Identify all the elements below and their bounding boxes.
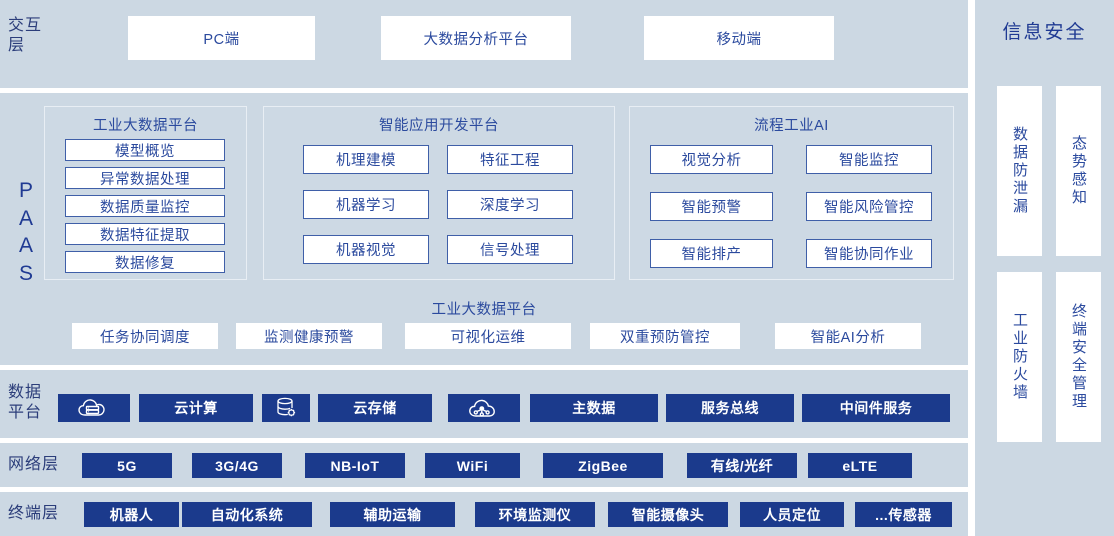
- paas-band-item-visual-ops[interactable]: 可视化运维: [405, 323, 571, 349]
- paas-item-smart-collaboration[interactable]: 智能协同作业: [806, 239, 932, 268]
- paas-item-mechanism-modeling[interactable]: 机理建模: [303, 145, 429, 174]
- paas-item-data-repair[interactable]: 数据修复: [65, 251, 225, 273]
- data-platform-layer-label: 数据 平台: [8, 383, 58, 424]
- paas-item-deep-learning[interactable]: 深度学习: [447, 190, 573, 219]
- paas-item-signal-processing[interactable]: 信号处理: [447, 235, 573, 264]
- data-platform-item-master-data[interactable]: 主数据: [530, 394, 658, 422]
- interaction-item-pc[interactable]: PC端: [128, 16, 315, 60]
- network-item-zigbee[interactable]: ZigBee: [543, 453, 663, 478]
- paas-char-0: P: [6, 177, 46, 205]
- paas-char-2: A: [6, 232, 46, 260]
- network-item-3g4g[interactable]: 3G/4G: [192, 453, 282, 478]
- data-platform-item-database[interactable]: [262, 394, 310, 422]
- paas-item-smart-early-warning[interactable]: 智能预警: [650, 192, 773, 221]
- terminal-item-sensors[interactable]: ...传感器: [855, 502, 952, 527]
- data-platform-item-cloud-server[interactable]: [58, 394, 130, 422]
- security-column-panel: 信息安全: [975, 0, 1114, 536]
- paas-group-title: 工业大数据平台: [45, 114, 246, 135]
- paas-item-visual-analysis[interactable]: 视觉分析: [650, 145, 773, 174]
- paas-item-data-quality[interactable]: 数据质量监控: [65, 195, 225, 217]
- interaction-item-mobile[interactable]: 移动端: [644, 16, 834, 60]
- paas-item-smart-production-scheduling[interactable]: 智能排产: [650, 239, 773, 268]
- paas-group-title: 流程工业AI: [630, 114, 953, 135]
- network-item-5g[interactable]: 5G: [82, 453, 172, 478]
- interaction-item-bigdata-platform[interactable]: 大数据分析平台: [381, 16, 571, 60]
- paas-bottom-band-title: 工业大数据平台: [0, 298, 968, 319]
- data-platform-item-cloud-computing[interactable]: 云计算: [139, 394, 253, 422]
- network-item-nbiot[interactable]: NB-IoT: [305, 453, 405, 478]
- terminal-item-smart-camera[interactable]: 智能摄像头: [608, 502, 728, 527]
- paas-group-title: 智能应用开发平台: [264, 114, 614, 135]
- terminal-item-auxiliary-transport[interactable]: 辅助运输: [330, 502, 455, 527]
- paas-layer-label: P A A S: [6, 177, 46, 288]
- data-platform-item-service-bus[interactable]: 服务总线: [666, 394, 794, 422]
- paas-item-machine-learning[interactable]: 机器学习: [303, 190, 429, 219]
- paas-band-item-dual-prevention[interactable]: 双重预防管控: [590, 323, 740, 349]
- paas-band-item-task-scheduling[interactable]: 任务协同调度: [72, 323, 218, 349]
- paas-item-smart-monitoring[interactable]: 智能监控: [806, 145, 932, 174]
- paas-item-feature-extraction[interactable]: 数据特征提取: [65, 223, 225, 245]
- paas-item-smart-risk-control[interactable]: 智能风险管控: [806, 192, 932, 221]
- paas-item-abnormal-data[interactable]: 异常数据处理: [65, 167, 225, 189]
- security-item-situational-awareness[interactable]: 态势感知: [1056, 86, 1101, 256]
- security-item-terminal-security-management[interactable]: 终端安全管理: [1056, 272, 1101, 442]
- terminal-item-personnel-positioning[interactable]: 人员定位: [740, 502, 844, 527]
- security-column-title: 信息安全: [975, 17, 1114, 44]
- data-platform-item-cloud-network[interactable]: [448, 394, 520, 422]
- terminal-item-automation-system[interactable]: 自动化系统: [182, 502, 312, 527]
- paas-char-3: S: [6, 260, 46, 288]
- terminal-layer-label: 终端层: [8, 504, 68, 524]
- paas-char-1: A: [6, 205, 46, 233]
- terminal-item-environment-monitor[interactable]: 环境监测仪: [475, 502, 595, 527]
- paas-item-model-overview[interactable]: 模型概览: [65, 139, 225, 161]
- cloud-network-icon: [467, 397, 501, 419]
- network-layer-label: 网络层: [8, 455, 68, 475]
- terminal-item-robot[interactable]: 机器人: [84, 502, 179, 527]
- data-platform-item-middleware[interactable]: 中间件服务: [802, 394, 950, 422]
- paas-item-machine-vision[interactable]: 机器视觉: [303, 235, 429, 264]
- architecture-diagram: 交互 层 PC端 大数据分析平台 移动端 P A A S 工业大数据平台 模型概…: [0, 0, 1114, 536]
- paas-item-feature-engineering[interactable]: 特征工程: [447, 145, 573, 174]
- security-item-data-leak-prevention[interactable]: 数据防泄漏: [997, 86, 1042, 256]
- network-item-wifi[interactable]: WiFi: [425, 453, 520, 478]
- cloud-server-icon: [77, 397, 111, 419]
- paas-band-item-health-warning[interactable]: 监测健康预警: [236, 323, 382, 349]
- database-gear-icon: [274, 396, 298, 420]
- security-item-industrial-firewall[interactable]: 工业防火墙: [997, 272, 1042, 442]
- paas-band-item-ai-analysis[interactable]: 智能AI分析: [775, 323, 921, 349]
- data-platform-item-cloud-storage[interactable]: 云存储: [318, 394, 432, 422]
- interaction-layer-label: 交互 层: [8, 16, 54, 57]
- network-item-elte[interactable]: eLTE: [808, 453, 912, 478]
- network-item-wired-fiber[interactable]: 有线/光纤: [687, 453, 797, 478]
